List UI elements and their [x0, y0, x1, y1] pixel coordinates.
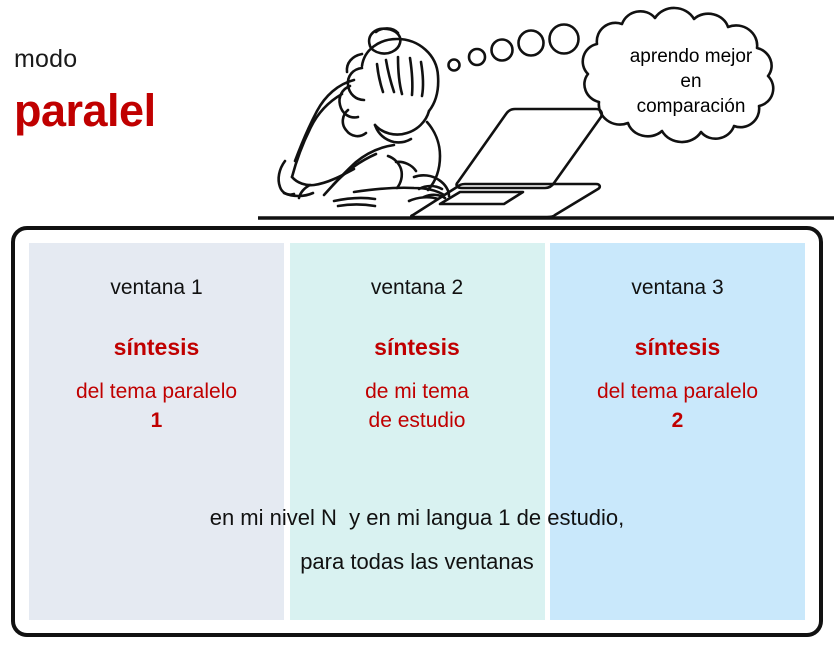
title-block: modo paralel — [14, 44, 264, 137]
thought-dot-5 — [550, 25, 579, 54]
thought-bubble-text: aprendo mejor en comparación — [592, 44, 790, 119]
thought-dot-2 — [469, 49, 485, 65]
window-column-2-description: de mi tema de estudio — [290, 377, 545, 435]
window-column-3-synthesis: síntesis — [550, 333, 805, 361]
window-column-1-desc-line-1: del tema paralelo — [29, 377, 284, 406]
window-column-2-title: ventana 2 — [290, 275, 545, 301]
window-column-2-desc-line-2: de estudio — [290, 406, 545, 435]
mode-label: modo — [14, 44, 264, 74]
windows-columns: ventana 1 síntesis del tema paralelo 1 v… — [29, 243, 805, 620]
window-column-3[interactable]: ventana 3 síntesis del tema paralelo 2 — [550, 243, 805, 620]
window-column-3-desc-line-2: 2 — [550, 406, 805, 435]
window-column-2-desc-line-1: de mi tema — [290, 377, 545, 406]
window-column-3-desc-line-1: del tema paralelo — [550, 377, 805, 406]
header-area: modo paralel — [0, 0, 834, 226]
mode-name-title: paralel — [14, 85, 264, 137]
thought-bubble-line-2: en — [592, 69, 790, 94]
window-column-3-description: del tema paralelo 2 — [550, 377, 805, 435]
thought-dot-4 — [519, 31, 544, 56]
window-column-1-title: ventana 1 — [29, 275, 284, 301]
laptop-screen — [457, 109, 602, 188]
window-column-1-desc-line-2: 1 — [29, 406, 284, 435]
window-column-2-synthesis: síntesis — [290, 333, 545, 361]
window-column-2[interactable]: ventana 2 síntesis de mi tema de estudio — [290, 243, 545, 620]
window-column-1[interactable]: ventana 1 síntesis del tema paralelo 1 — [29, 243, 284, 620]
thought-dot-3 — [492, 40, 513, 61]
thought-dot-1 — [449, 60, 460, 71]
thought-bubble-line-1: aprendo mejor — [592, 44, 790, 69]
window-column-1-description: del tema paralelo 1 — [29, 377, 284, 435]
window-column-1-synthesis: síntesis — [29, 333, 284, 361]
thought-bubble-line-3: comparación — [592, 94, 790, 119]
window-column-3-title: ventana 3 — [550, 275, 805, 301]
